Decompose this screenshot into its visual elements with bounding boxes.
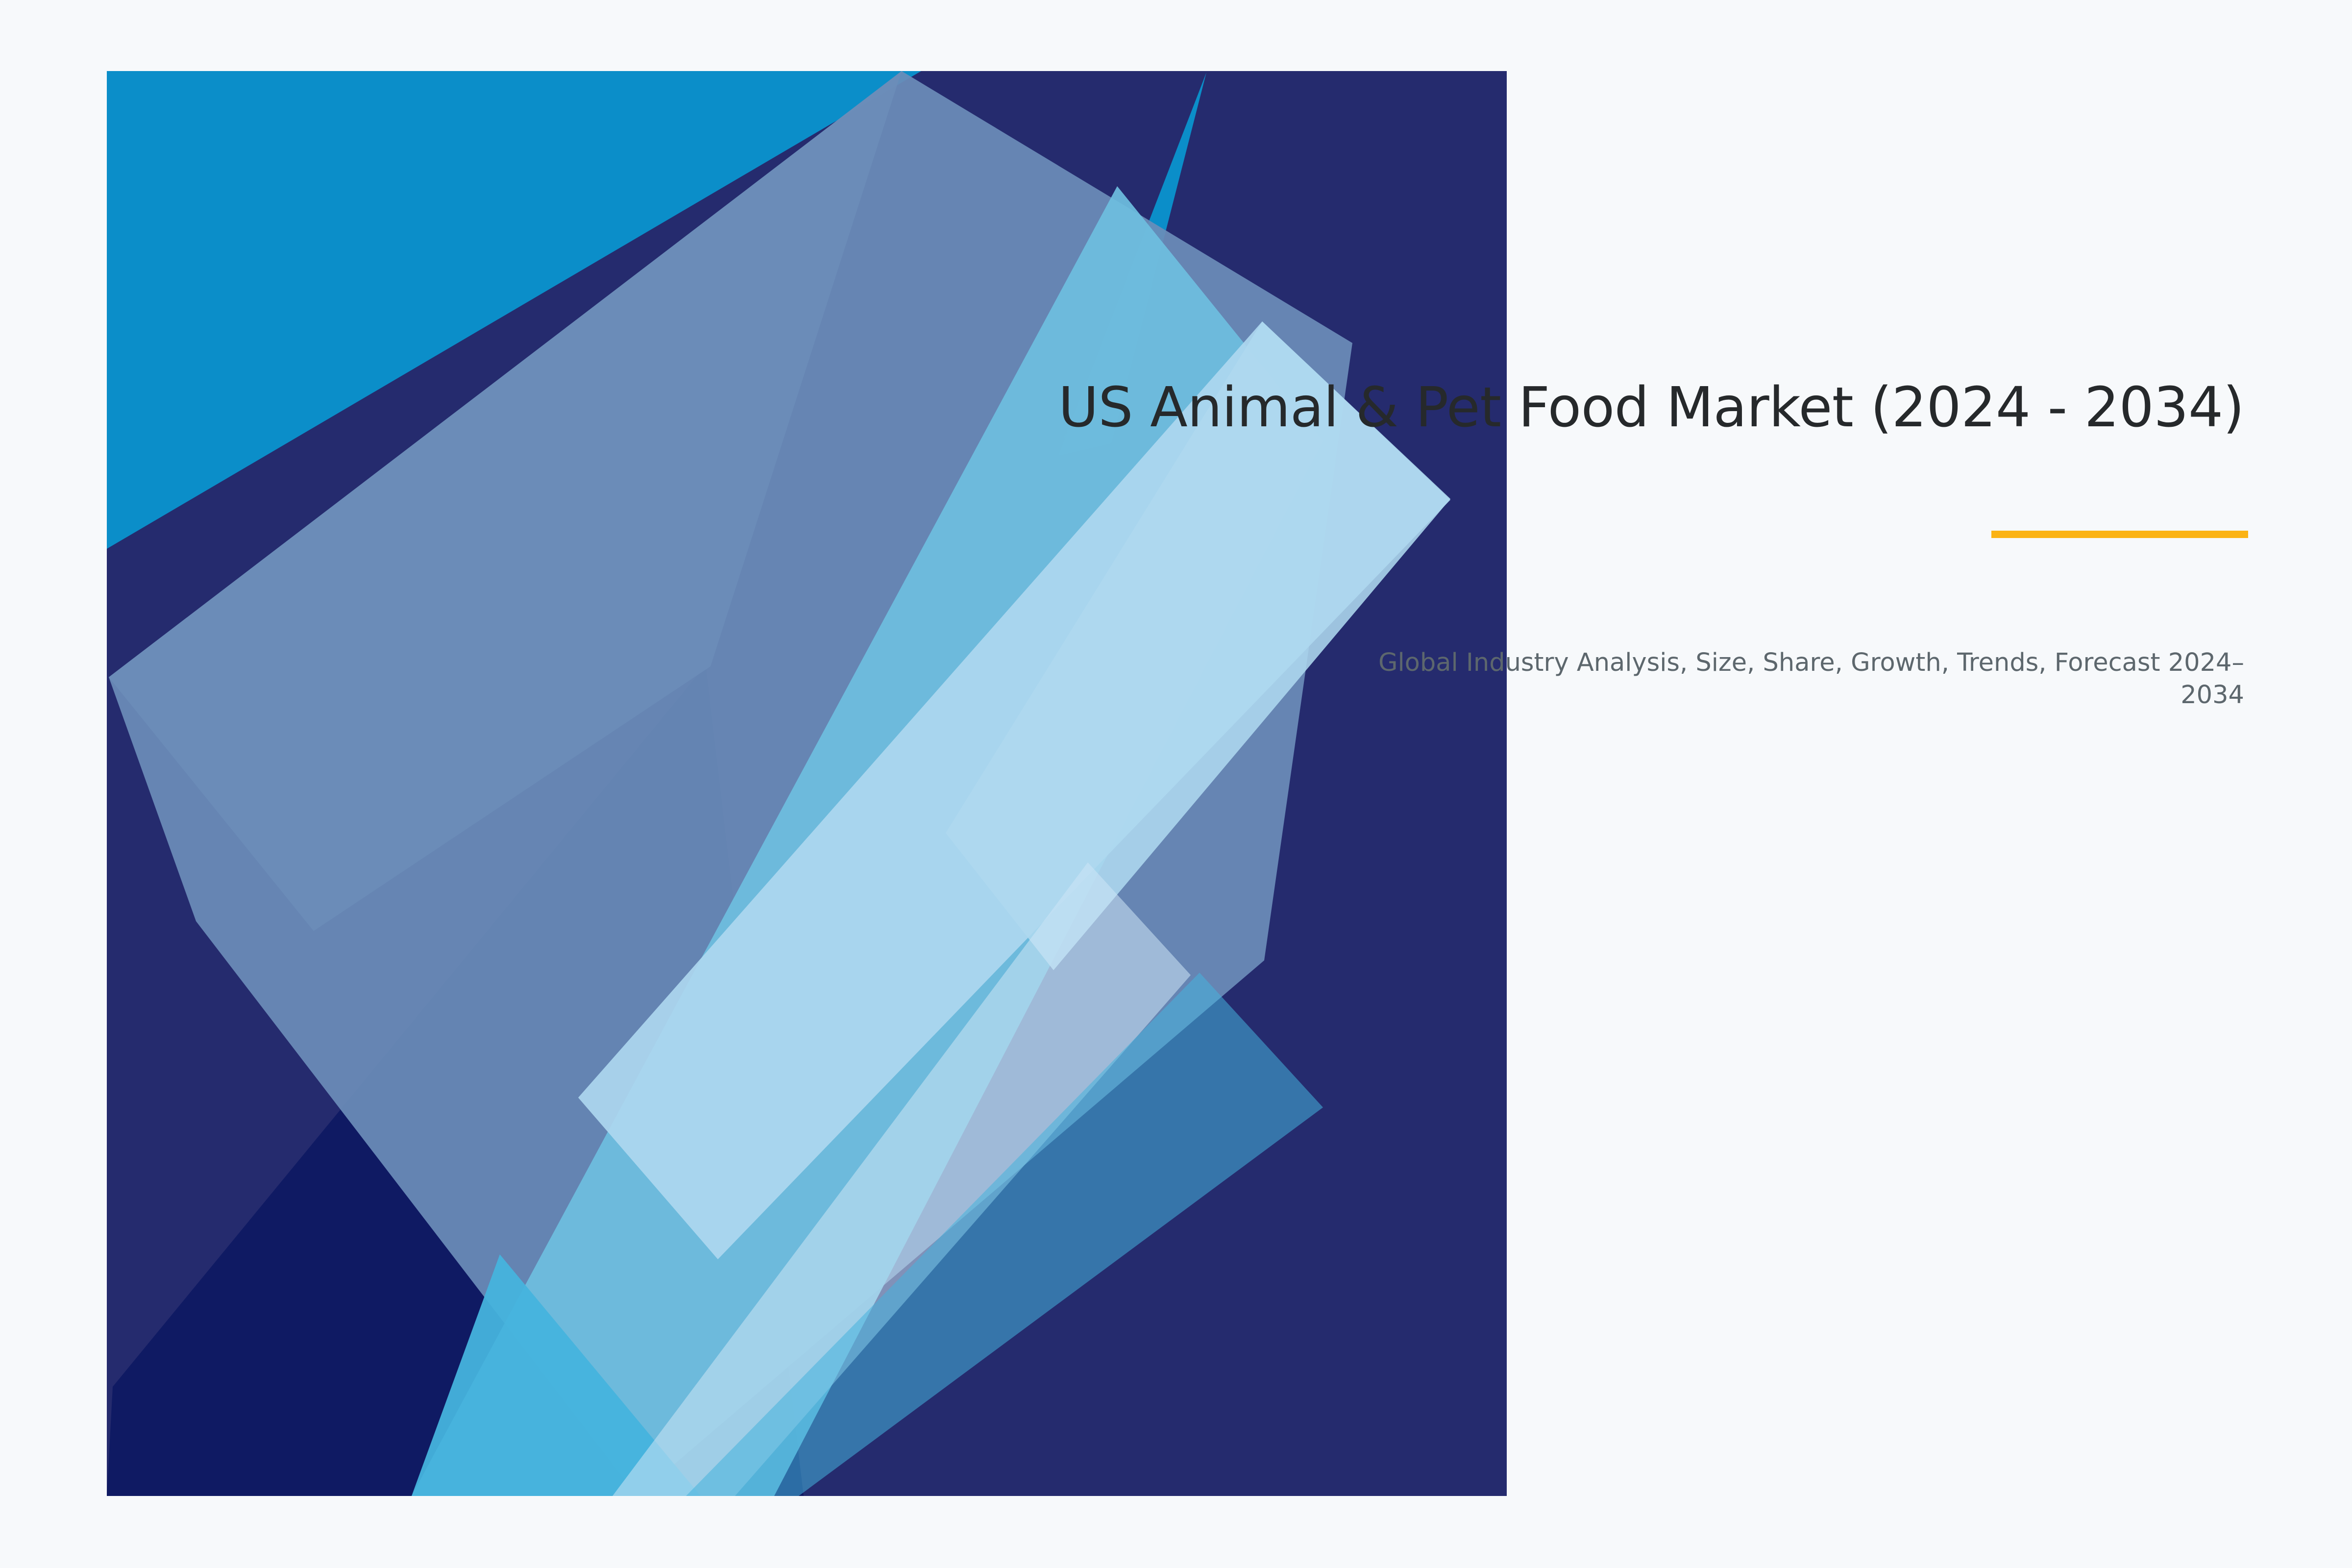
shape-sky-blue-right-strip [686, 973, 1323, 1496]
shape-deep-navy-wedge [107, 665, 804, 1496]
title-slide: US Animal & Pet Food Market (2024 - 2034… [0, 0, 2352, 1568]
shape-navy-top-right-triangle [921, 71, 1507, 539]
page-subtitle: Global Industry Analysis, Size, Share, G… [1372, 647, 2244, 712]
shape-light-blue-diagonal [578, 321, 1450, 1259]
shape-slate-polygon-secondary [109, 71, 902, 931]
page-title: US Animal & Pet Food Market (2024 - 2034… [735, 372, 2244, 444]
title-text-block: US Animal & Pet Food Market (2024 - 2034… [735, 372, 2244, 444]
shape-navy-diagonal [107, 71, 1507, 1496]
shape-pale-blue-highlight [612, 862, 1191, 1496]
shape-cyan-field [107, 71, 1507, 1496]
abstract-geometric-artwork [0, 0, 2352, 1568]
title-accent-underline [1991, 531, 2248, 538]
shape-slate-polygon [109, 71, 1352, 1496]
shape-sky-blue-sliver [412, 1254, 701, 1496]
